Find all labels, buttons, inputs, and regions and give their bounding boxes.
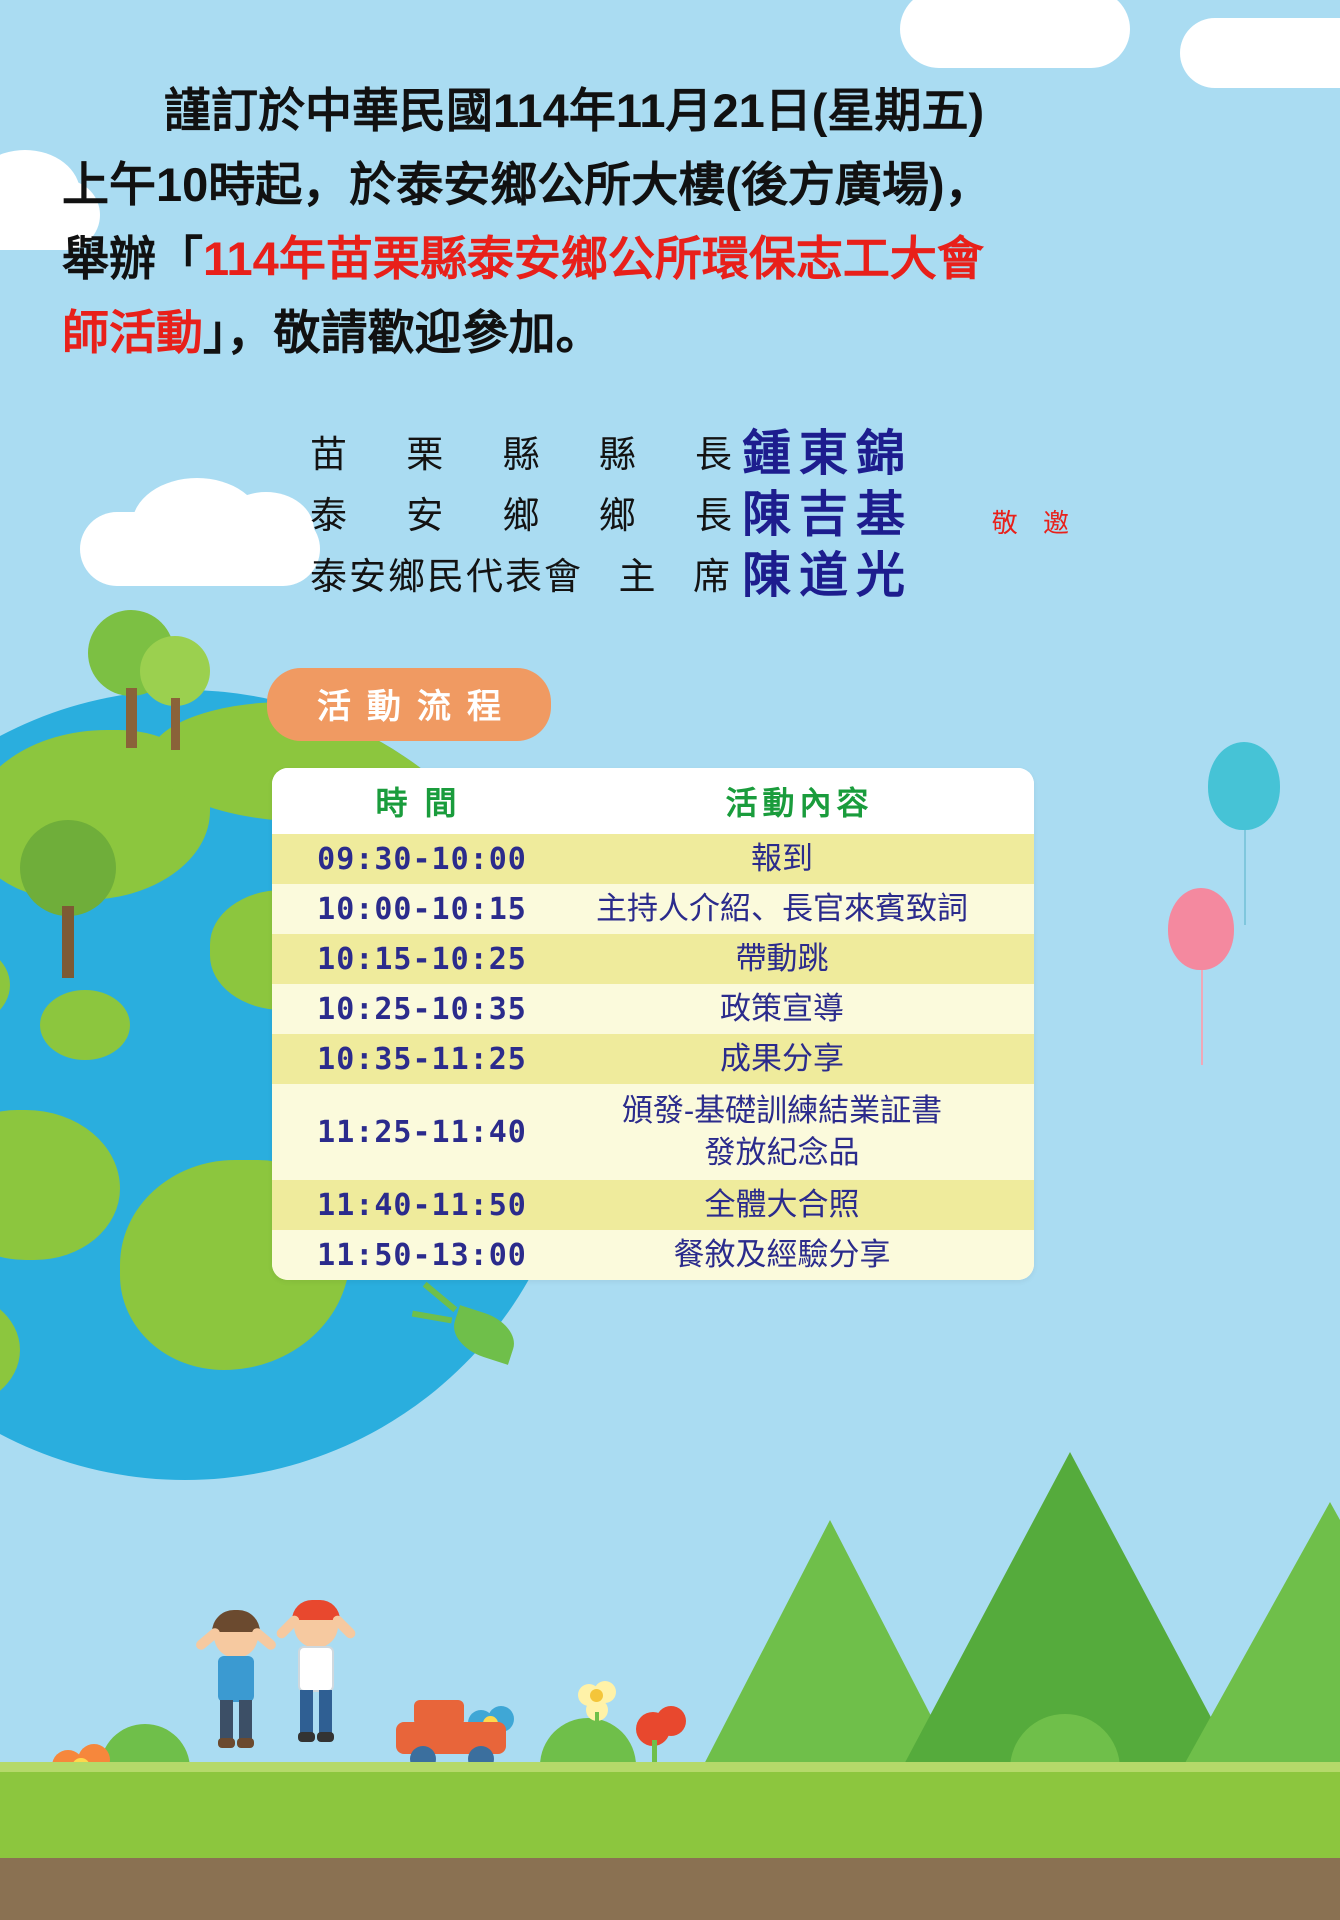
cell-content-line: 報到 [560, 838, 1004, 880]
balloon-icon [1208, 742, 1280, 830]
headline-line-1: 謹訂於中華民國114年11月21日(星期五) [62, 74, 1072, 148]
cell-time: 10:00-10:15 [272, 892, 560, 927]
toy-car-illustration [396, 1698, 514, 1768]
headline-line-4-suffix: 」，敬請歡迎參加。 [203, 306, 603, 359]
signature-org-char: 栗 [406, 431, 443, 479]
cell-time: 11:25-11:40 [272, 1115, 560, 1150]
signature-post-char: 主 [619, 553, 658, 601]
cell-content-line: 全體大合照 [560, 1184, 1004, 1226]
table-row: 10:25-10:35 政策宣導 [272, 984, 1034, 1034]
cloud-icon [218, 492, 314, 568]
table-row: 10:00-10:15 主持人介紹、長官來賓致詞 [272, 884, 1034, 934]
ground-soil [0, 1858, 1340, 1920]
signature-unit-char: 鄉 [503, 492, 540, 540]
cell-content-line: 帶動跳 [560, 938, 1004, 980]
cell-time: 10:25-10:35 [272, 992, 560, 1027]
signature-name: 陳吉基 [742, 488, 913, 540]
cell-content: 頒發-基礎訓練結業証書 發放紀念品 [560, 1086, 1034, 1178]
signature-name: 陳道光 [742, 549, 913, 601]
cell-time: 09:30-10:00 [272, 842, 560, 877]
signature-post-char: 席 [693, 553, 732, 601]
cell-content: 帶動跳 [560, 934, 1034, 984]
cell-content: 餐敘及經驗分享 [560, 1230, 1034, 1280]
signature-name: 鍾東錦 [742, 427, 913, 479]
table-row: 11:50-13:00 餐敘及經驗分享 [272, 1230, 1034, 1280]
signature-title: 苗 栗 縣 縣 長 [310, 431, 742, 479]
signature-post-char: 長 [695, 492, 732, 540]
cell-time: 11:50-13:00 [272, 1238, 560, 1273]
signature-title: 泰 安 鄉 鄉 長 [310, 492, 742, 540]
signature-row: 泰 安 鄉 鄉 長 陳吉基 [310, 479, 1070, 540]
headline-line-3-prefix: 舉辦「 [62, 232, 203, 285]
cell-content: 主持人介紹、長官來賓致詞 [560, 884, 1034, 934]
table-row: 11:40-11:50 全體大合照 [272, 1180, 1034, 1230]
cell-time: 10:15-10:25 [272, 942, 560, 977]
cell-time: 10:35-11:25 [272, 1042, 560, 1077]
signature-title: 泰安鄉民代表會 主 席 [310, 553, 742, 601]
schedule-table-header: 時間 活動內容 [272, 768, 1034, 834]
cell-content-line: 主持人介紹、長官來賓致詞 [560, 888, 1004, 930]
leaf-sprout-illustration [412, 1286, 522, 1396]
signature-row: 泰安鄉民代表會 主 席 陳道光 [310, 540, 1070, 601]
invite-label: 敬 邀 [992, 503, 1078, 540]
column-header-time: 時間 [272, 778, 560, 824]
ground-grass-highlight [0, 1762, 1340, 1772]
mountain-illustration [1180, 1502, 1340, 1772]
signature-row: 苗 栗 縣 縣 長 鍾東錦 [310, 418, 1070, 479]
cell-time: 11:40-11:50 [272, 1188, 560, 1223]
headline-line-3: 舉辦「114年苗栗縣泰安鄉公所環保志工大會 [62, 222, 1072, 296]
signature-org-char: 泰 [310, 492, 347, 540]
cell-content: 全體大合照 [560, 1180, 1034, 1230]
signature-post-char: 鄉 [599, 492, 636, 540]
table-row: 10:35-11:25 成果分享 [272, 1034, 1034, 1084]
cell-content: 政策宣導 [560, 984, 1034, 1034]
kid-illustration [196, 1614, 276, 1764]
headline-line-4-emphasis: 師活動 [62, 306, 203, 359]
headline-line-3-emphasis: 114年苗栗縣泰安鄉公所環保志工大會 [203, 232, 984, 285]
table-row: 10:15-10:25 帶動跳 [272, 934, 1034, 984]
headline-block: 謹訂於中華民國114年11月21日(星期五) 上午10時起，於泰安鄉公所大樓(後… [62, 74, 1072, 370]
poster-canvas: 謹訂於中華民國114年11月21日(星期五) 上午10時起，於泰安鄉公所大樓(後… [0, 0, 1340, 1920]
cell-content: 成果分享 [560, 1034, 1034, 1084]
cloud-icon [1180, 18, 1340, 88]
signature-org-char: 苗 [310, 431, 347, 479]
signature-org-char: 安 [406, 492, 443, 540]
signature-post-char: 長 [695, 431, 732, 479]
signature-block: 苗 栗 縣 縣 長 鍾東錦 泰 安 鄉 鄉 長 陳吉基 泰安鄉民代表會 主 席 [310, 418, 1070, 601]
headline-line-2: 上午10時起，於泰安鄉公所大樓(後方廣場)， [62, 148, 1072, 222]
cell-content-line: 政策宣導 [560, 988, 1004, 1030]
schedule-table: 時間 活動內容 09:30-10:00 報到 10:00-10:15 主持人介紹… [272, 768, 1034, 1280]
signature-post-char: 縣 [599, 431, 636, 479]
table-row: 11:25-11:40 頒發-基礎訓練結業証書 發放紀念品 [272, 1084, 1034, 1180]
signature-org-char: 泰安鄉民代表會 [310, 553, 583, 601]
section-badge-activity-flow: 活動流程 [267, 668, 551, 741]
table-row: 09:30-10:00 報到 [272, 834, 1034, 884]
cell-content-line: 餐敘及經驗分享 [560, 1234, 1004, 1276]
cell-content-line: 成果分享 [560, 1038, 1004, 1080]
cell-content: 報到 [560, 834, 1034, 884]
cell-content-line: 發放紀念品 [560, 1132, 1004, 1174]
signature-unit-char: 縣 [503, 431, 540, 479]
headline-line-4: 師活動」，敬請歡迎參加。 [62, 296, 1072, 370]
kid-illustration [276, 1604, 356, 1764]
column-header-content: 活動內容 [560, 778, 1034, 824]
cell-content-line: 頒發-基礎訓練結業証書 [560, 1090, 1004, 1132]
balloon-icon [1168, 888, 1234, 970]
